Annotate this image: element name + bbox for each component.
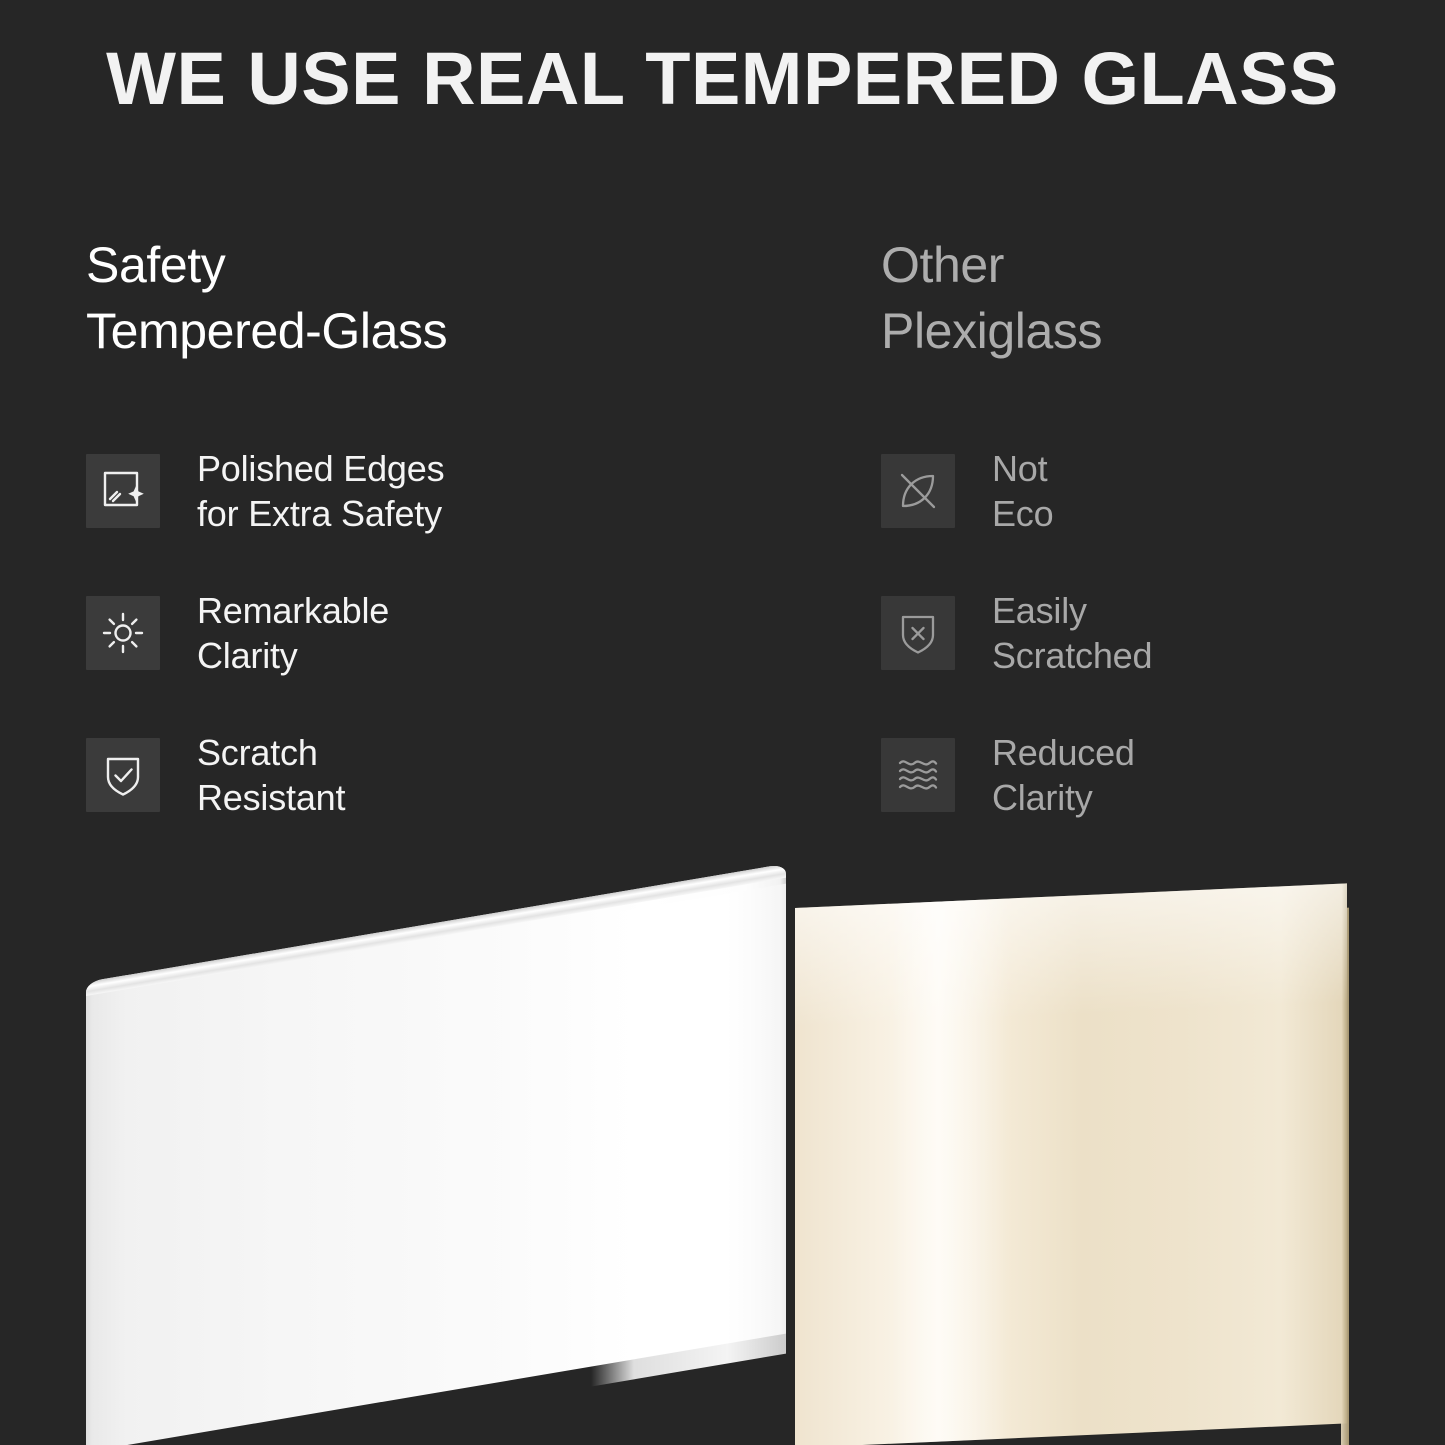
feature-label-easily-scratched: Easily Scratched — [992, 588, 1152, 678]
feature-reduced-clarity: Reduced Clarity — [881, 720, 1441, 830]
column-title-plexiglass: Other Plexiglass — [881, 232, 1441, 364]
page-title: WE USE REAL TEMPERED GLASS — [0, 40, 1445, 118]
column-tempered-glass: Safety Tempered-Glass Polished Edges for… — [86, 232, 646, 830]
feature-label-scratch-resistant: Scratch Resistant — [197, 730, 345, 820]
feature-polished-edges: Polished Edges for Extra Safety — [86, 436, 646, 546]
feature-list-tempered-glass: Polished Edges for Extra Safety — [86, 436, 646, 830]
feature-label-not-eco: Not Eco — [992, 446, 1053, 536]
feature-label-reduced-clarity: Reduced Clarity — [992, 730, 1135, 820]
feature-not-eco: Not Eco — [881, 436, 1441, 546]
polished-glass-sparkle-icon — [86, 454, 160, 528]
comparison-infographic: WE USE REAL TEMPERED GLASS Safety Temper… — [0, 0, 1445, 1445]
column-title-tempered-glass: Safety Tempered-Glass — [86, 232, 646, 364]
feature-label-polished-edges: Polished Edges for Extra Safety — [197, 446, 444, 536]
feature-scratch-resistant: Scratch Resistant — [86, 720, 646, 830]
tempered-glass-panel — [86, 864, 786, 1445]
plexiglass-panel — [795, 883, 1347, 1445]
wavy-lines-icon — [881, 738, 955, 812]
feature-remarkable-clarity: Remarkable Clarity — [86, 578, 646, 688]
comparison-columns: Safety Tempered-Glass Polished Edges for… — [0, 232, 1445, 852]
sun-clarity-icon — [86, 596, 160, 670]
feature-list-plexiglass: Not Eco Easily Scratched — [881, 436, 1441, 830]
feature-easily-scratched: Easily Scratched — [881, 578, 1441, 688]
feature-label-remarkable-clarity: Remarkable Clarity — [197, 588, 389, 678]
shield-x-icon — [881, 596, 955, 670]
column-plexiglass: Other Plexiglass Not Eco — [881, 232, 1441, 830]
leaf-slashed-icon — [881, 454, 955, 528]
shield-check-icon — [86, 738, 160, 812]
product-panel-images — [0, 840, 1445, 1445]
